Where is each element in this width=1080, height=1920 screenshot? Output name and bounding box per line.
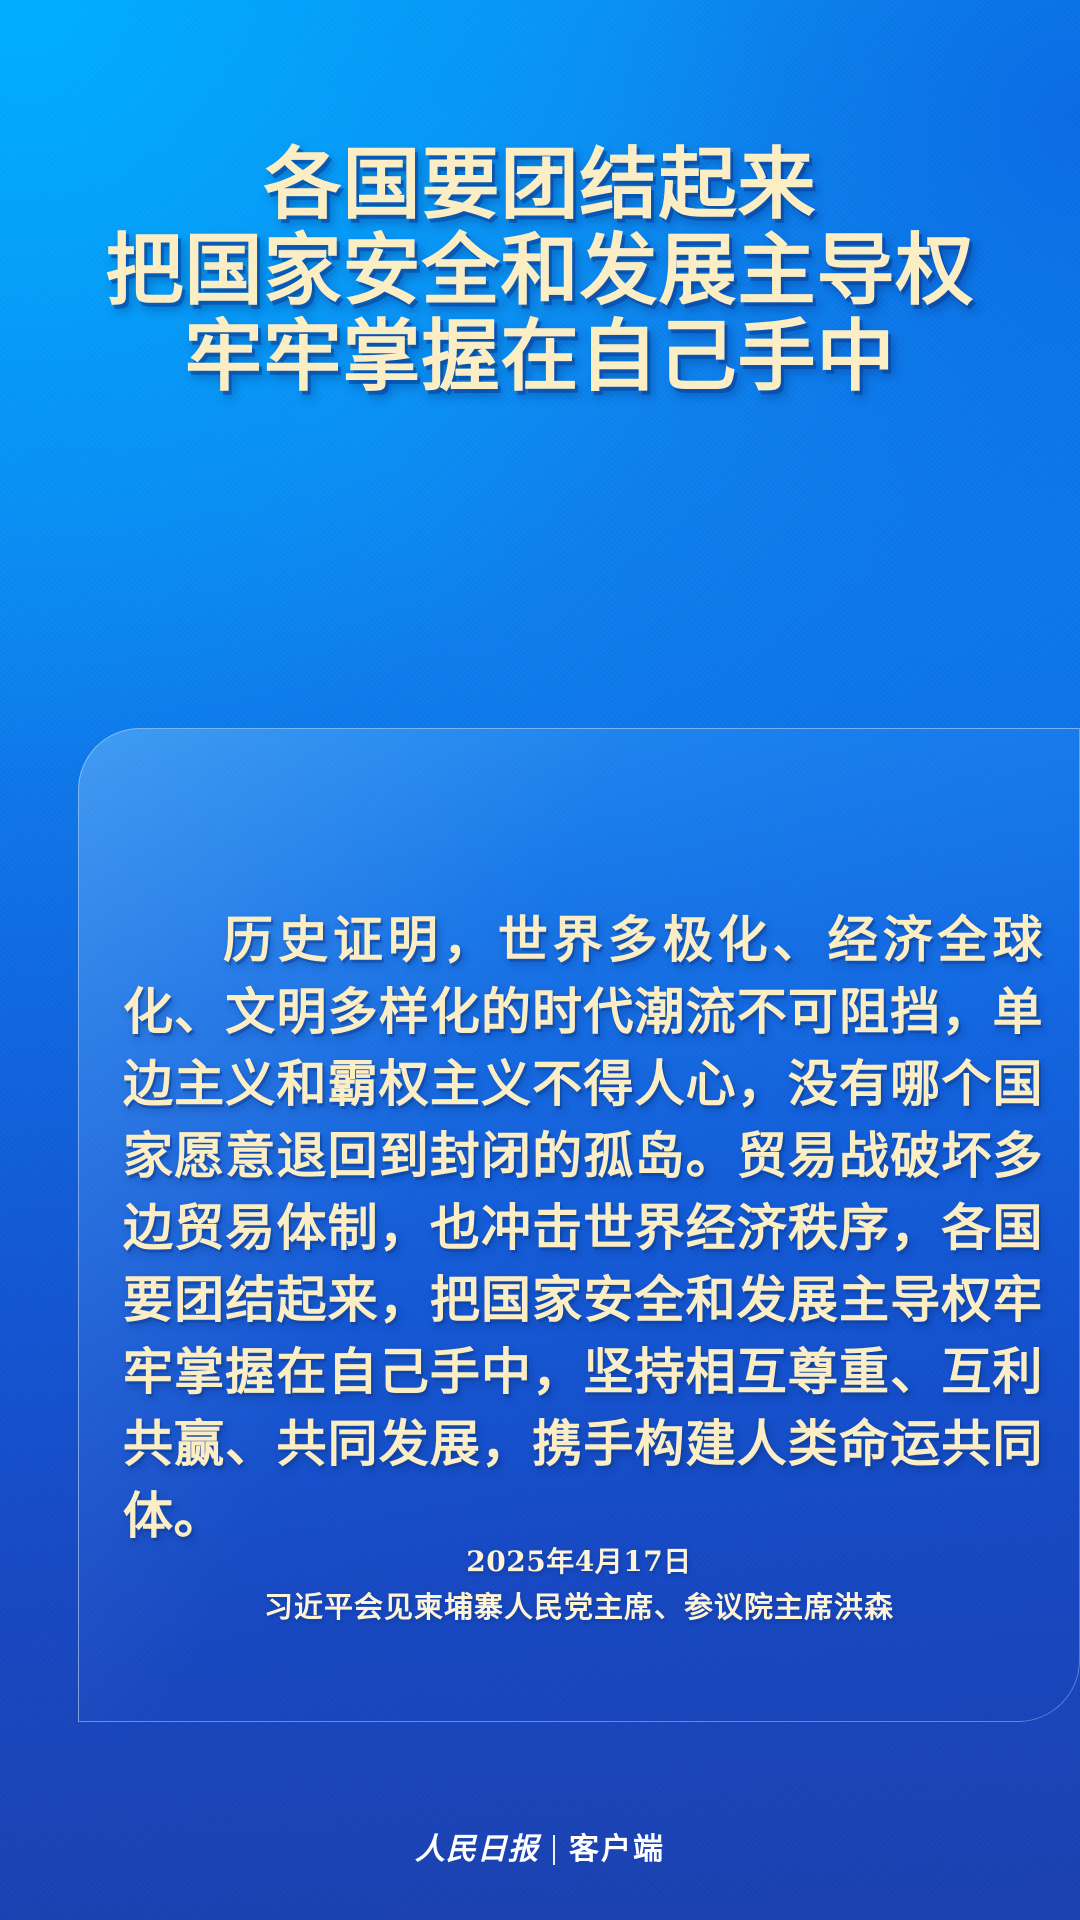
quote-body: 历史证明，世界多极化、经济全球化、文明多样化的时代潮流不可阻挡，单边主义和霸权主…	[123, 904, 1043, 1552]
footer-logo: 人民日报 客户端	[0, 1832, 1080, 1868]
logo-divider-icon	[553, 1835, 555, 1865]
product-name: 客户端	[569, 1832, 665, 1868]
headline-line-3: 牢牢掌握在自己手中	[0, 314, 1080, 400]
headline-line-1: 各国要团结起来	[0, 142, 1080, 228]
page-title: 各国要团结起来 把国家安全和发展主导权 牢牢掌握在自己手中	[0, 142, 1080, 400]
poster-root: 各国要团结起来 把国家安全和发展主导权 牢牢掌握在自己手中 历史证明，世界多极化…	[0, 0, 1080, 1920]
attribution-date: 2025年4月17日	[79, 1541, 1079, 1583]
headline-line-2: 把国家安全和发展主导权	[0, 228, 1080, 314]
attribution-source: 习近平会见柬埔寨人民党主席、参议院主席洪森	[79, 1583, 1079, 1631]
brand-name: 人民日报	[415, 1832, 539, 1868]
attribution: 2025年4月17日 习近平会见柬埔寨人民党主席、参议院主席洪森	[79, 1541, 1079, 1631]
quote-card: 历史证明，世界多极化、经济全球化、文明多样化的时代潮流不可阻挡，单边主义和霸权主…	[78, 728, 1080, 1722]
